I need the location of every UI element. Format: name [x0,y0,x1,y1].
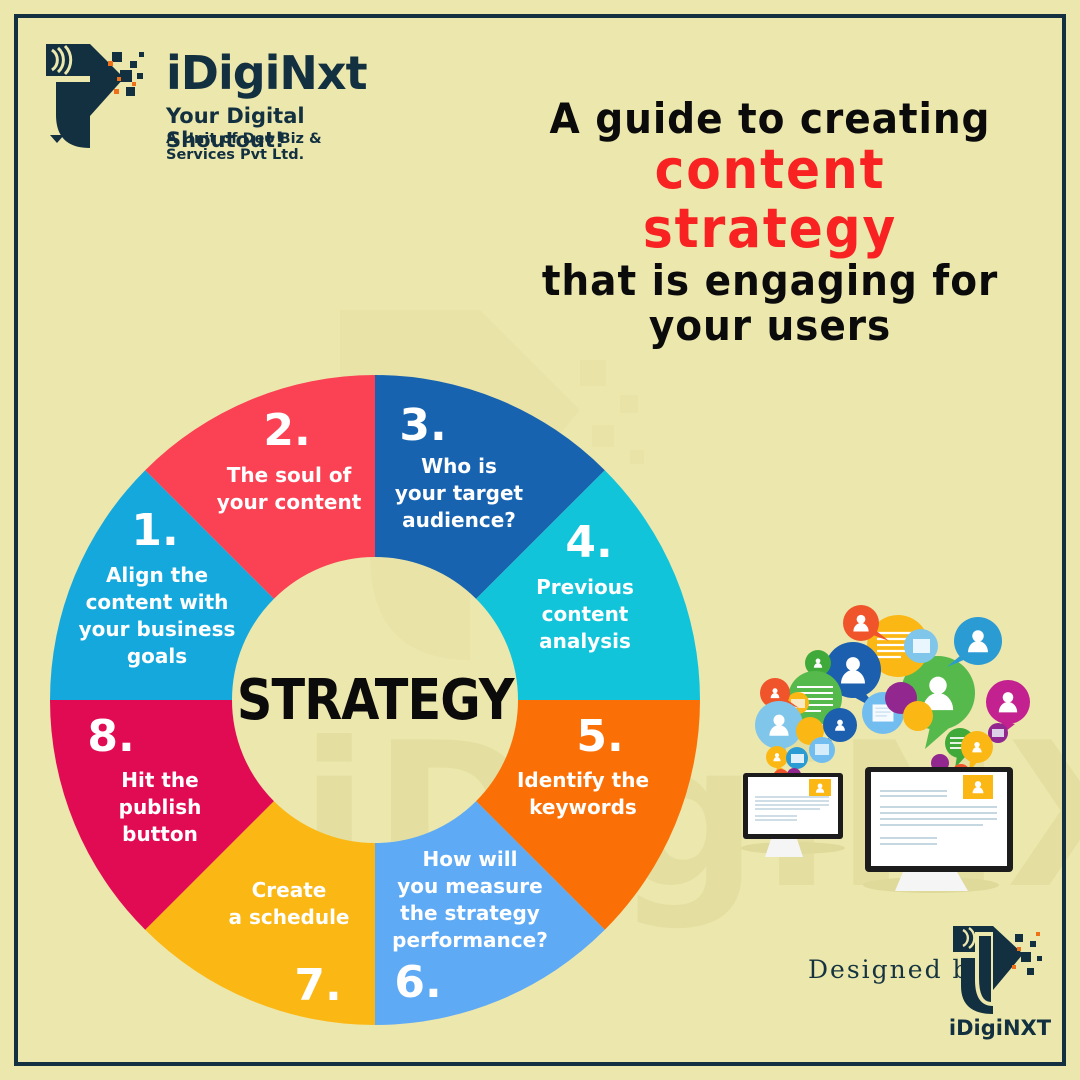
segment-text-line: Previous [536,575,634,599]
segment-text-line: your content [217,490,362,514]
segment-text-line: you measure [397,874,542,898]
segment-text-line: Create [252,878,327,902]
segment-text-line: The soul of [227,463,352,487]
brand-unit-line: A Unit of Deo Biz & Services Pvt Ltd. [166,131,368,163]
segment-number: 8. [87,711,134,762]
segment-text-line: performance? [392,928,548,952]
segment-text-line: Who is [421,454,497,478]
brand-logo: iDigiNxt Your Digital Shoutout! A Unit o… [38,30,368,160]
segment-text-line: your target [395,481,524,505]
segment-number: 1. [131,505,178,556]
segment-text-line: Hit the [121,768,198,792]
segment-number: 2. [263,405,310,456]
headline-line-2-accent: content strategy [519,141,1021,258]
headline-line-4: your users [519,303,1021,348]
segment-text-line: a schedule [229,905,350,929]
poster-canvas: iDigiNXT [0,0,1080,1080]
segment-number: 7. [294,960,341,1011]
strategy-donut-chart: 1.Align thecontent withyour businessgoal… [50,375,700,1025]
segment-text-line: analysis [539,629,631,653]
segment-text-line: your business [79,617,236,641]
segment-number: 5. [576,711,623,762]
segment-text-line: content [542,602,629,626]
headline-line-1: A guide to creating [519,96,1021,141]
footer-brand-logo: iDigiNXT [945,920,1055,1050]
segment-text-line: audience? [402,508,516,532]
megaphone-pixel-icon [38,30,158,150]
headline-line-3: that is engaging for [519,258,1021,303]
footer-brand-name: iDigiNXT [945,1016,1055,1040]
social-content-monitors-illustration [725,595,1045,895]
headline: A guide to creating content strategy tha… [500,96,1040,349]
segment-text-line: Align the [106,563,208,587]
segment-text-line: goals [127,644,187,668]
segment-number: 4. [565,517,612,568]
brand-name-text: iDigiNxt [166,46,367,100]
segment-text-line: keywords [529,795,637,819]
segment-text-line: button [122,822,198,846]
segment-text-line: the strategy [400,901,540,925]
segment-number: 3. [399,400,446,451]
megaphone-pixel-icon [945,920,1055,1016]
segment-text-line: publish [119,795,202,819]
segment-text-line: content with [86,590,229,614]
brand-name: iDigiNxt [166,50,367,96]
segment-text-line: How will [423,847,518,871]
segment-number: 6. [394,957,441,1008]
segment-text-line: Identify the [517,768,649,792]
